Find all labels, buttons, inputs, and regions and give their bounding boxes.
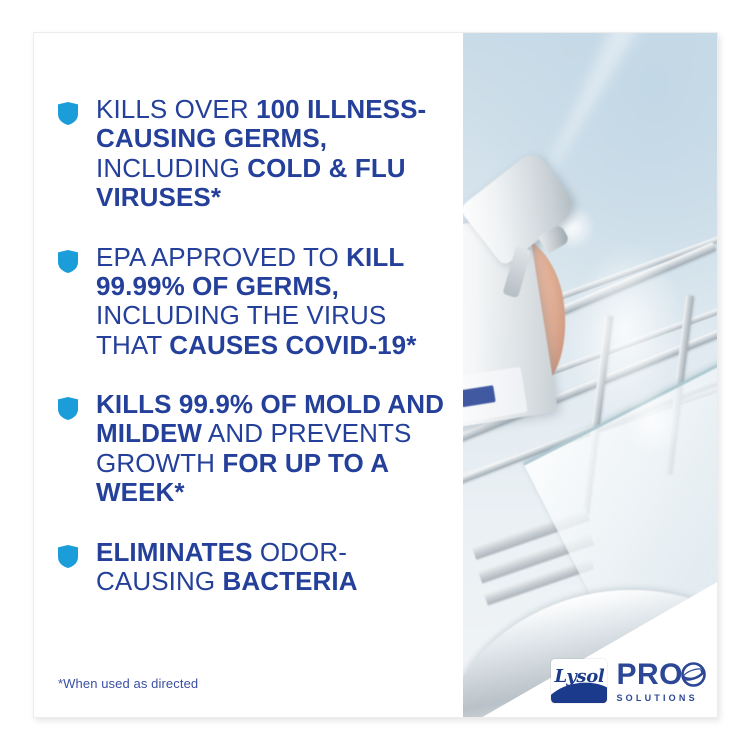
globe-swoosh-icon [681,662,706,687]
benefit-item-germs: KILLS OVER 100 ILLNESS-CAUSING GERMS, IN… [58,95,450,213]
product-in-use-photo: Lysol PRO [463,33,718,718]
shield-icon [58,250,78,273]
bottle-label-mark [463,385,496,407]
solutions-wordmark: SOLUTIONS [616,693,697,703]
shield-icon [58,545,78,568]
benefits-copy-panel: KILLS OVER 100 ILLNESS-CAUSING GERMS, IN… [34,33,464,717]
brand-logo-lockup: Lysol PRO [551,659,706,703]
shield-icon [58,102,78,125]
benefit-item-odor-bacteria: ELIMINATES ODOR-CAUSING BACTERIA [58,538,450,597]
benefit-list: KILLS OVER 100 ILLNESS-CAUSING GERMS, IN… [58,95,450,596]
bottle-label [463,367,528,424]
lysol-logo: Lysol [551,659,607,703]
benefit-item-epa-covid: EPA APPROVED TO KILL 99.99% OF GERMS, IN… [58,243,450,361]
product-benefits-card: KILLS OVER 100 ILLNESS-CAUSING GERMS, IN… [33,32,718,718]
benefit-text: KILLS OVER 100 ILLNESS-CAUSING GERMS, IN… [96,95,450,213]
pro-row: PRO [616,660,706,690]
benefit-text: ELIMINATES ODOR-CAUSING BACTERIA [96,538,450,597]
benefit-item-mold-mildew: KILLS 99.9% OF MOLD AND MILDEW AND PREVE… [58,390,450,508]
pro-solutions-logo: PRO SOLUTIONS [616,660,706,703]
screenshot-root: KILLS OVER 100 ILLNESS-CAUSING GERMS, IN… [0,0,750,750]
shield-icon [58,397,78,420]
footnote-disclaimer: *When used as directed [58,676,198,691]
benefit-text: EPA APPROVED TO KILL 99.99% OF GERMS, IN… [96,243,450,361]
pro-wordmark: PRO [616,660,683,690]
benefit-text: KILLS 99.9% OF MOLD AND MILDEW AND PREVE… [96,390,450,508]
